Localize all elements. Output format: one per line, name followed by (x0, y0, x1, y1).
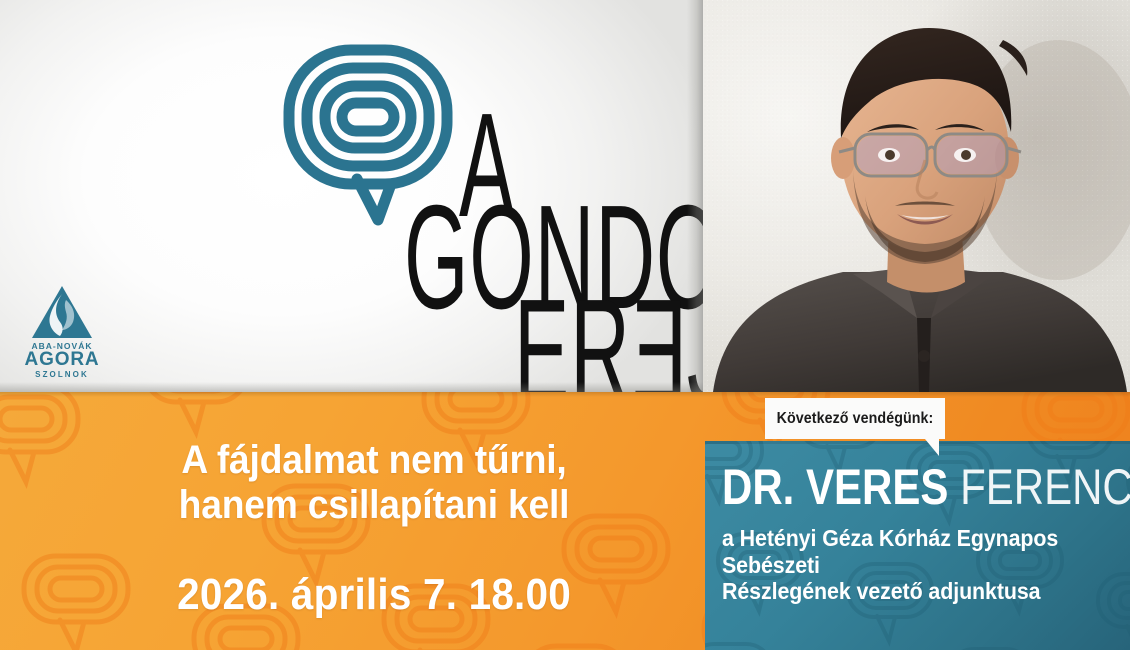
headline-line-2: hanem csillapítani kell (71, 483, 677, 528)
brand-line-3-pre: ER (514, 269, 631, 392)
brand-line-3-reversed-e: E (631, 284, 687, 392)
guest-role: a Hetényi Géza Kórház Egynapos Sebészeti… (722, 525, 1130, 605)
agora-triangle-logo-icon (30, 284, 94, 340)
panel-right-shadow (687, 0, 703, 392)
headline-line-1: A fájdalmat nem tűrni, (71, 438, 677, 483)
callout-tail (915, 439, 939, 456)
band-top-shadow (0, 392, 1130, 397)
brand-line-3: EREJE (514, 284, 703, 392)
organizer-logo: ABA-NOVÁK AGORA SZOLNOK (14, 284, 110, 384)
logo-panel: A GONDOLAT EREJE ABA-NOVÁK AGORA SZOLNOK (0, 0, 703, 392)
organizer-line-2: AGORA (14, 350, 110, 369)
guest-portrait-photo (703, 0, 1130, 392)
panel-bottom-shadow (0, 382, 703, 392)
guest-name-firstname: FERENC (960, 459, 1130, 515)
brand-wordmark: A GONDOLAT EREJE (404, 98, 696, 366)
portrait-figure (703, 0, 1130, 392)
guest-name: DR. VERES FERENC (722, 462, 1122, 512)
next-guest-callout: Következő vendégünk: (765, 398, 945, 439)
next-guest-label: Következő vendégünk: (772, 398, 938, 439)
event-headline: A fájdalmat nem tűrni, hanem csillapítan… (48, 438, 700, 528)
event-datetime-text: 2026. április 7. 18.00 (177, 573, 571, 617)
guest-role-line-2: Részlegének vezető adjunktusa (722, 578, 1101, 605)
event-datetime: 2026. április 7. 18.00 (48, 573, 700, 617)
guest-name-surname: DR. VERES (722, 459, 948, 515)
organizer-line-3: SZOLNOK (14, 370, 110, 379)
event-poster: A GONDOLAT EREJE ABA-NOVÁK AGORA SZOLNOK (0, 0, 1130, 650)
guest-role-line-1: a Hetényi Géza Kórház Egynapos Sebészeti (722, 525, 1101, 578)
